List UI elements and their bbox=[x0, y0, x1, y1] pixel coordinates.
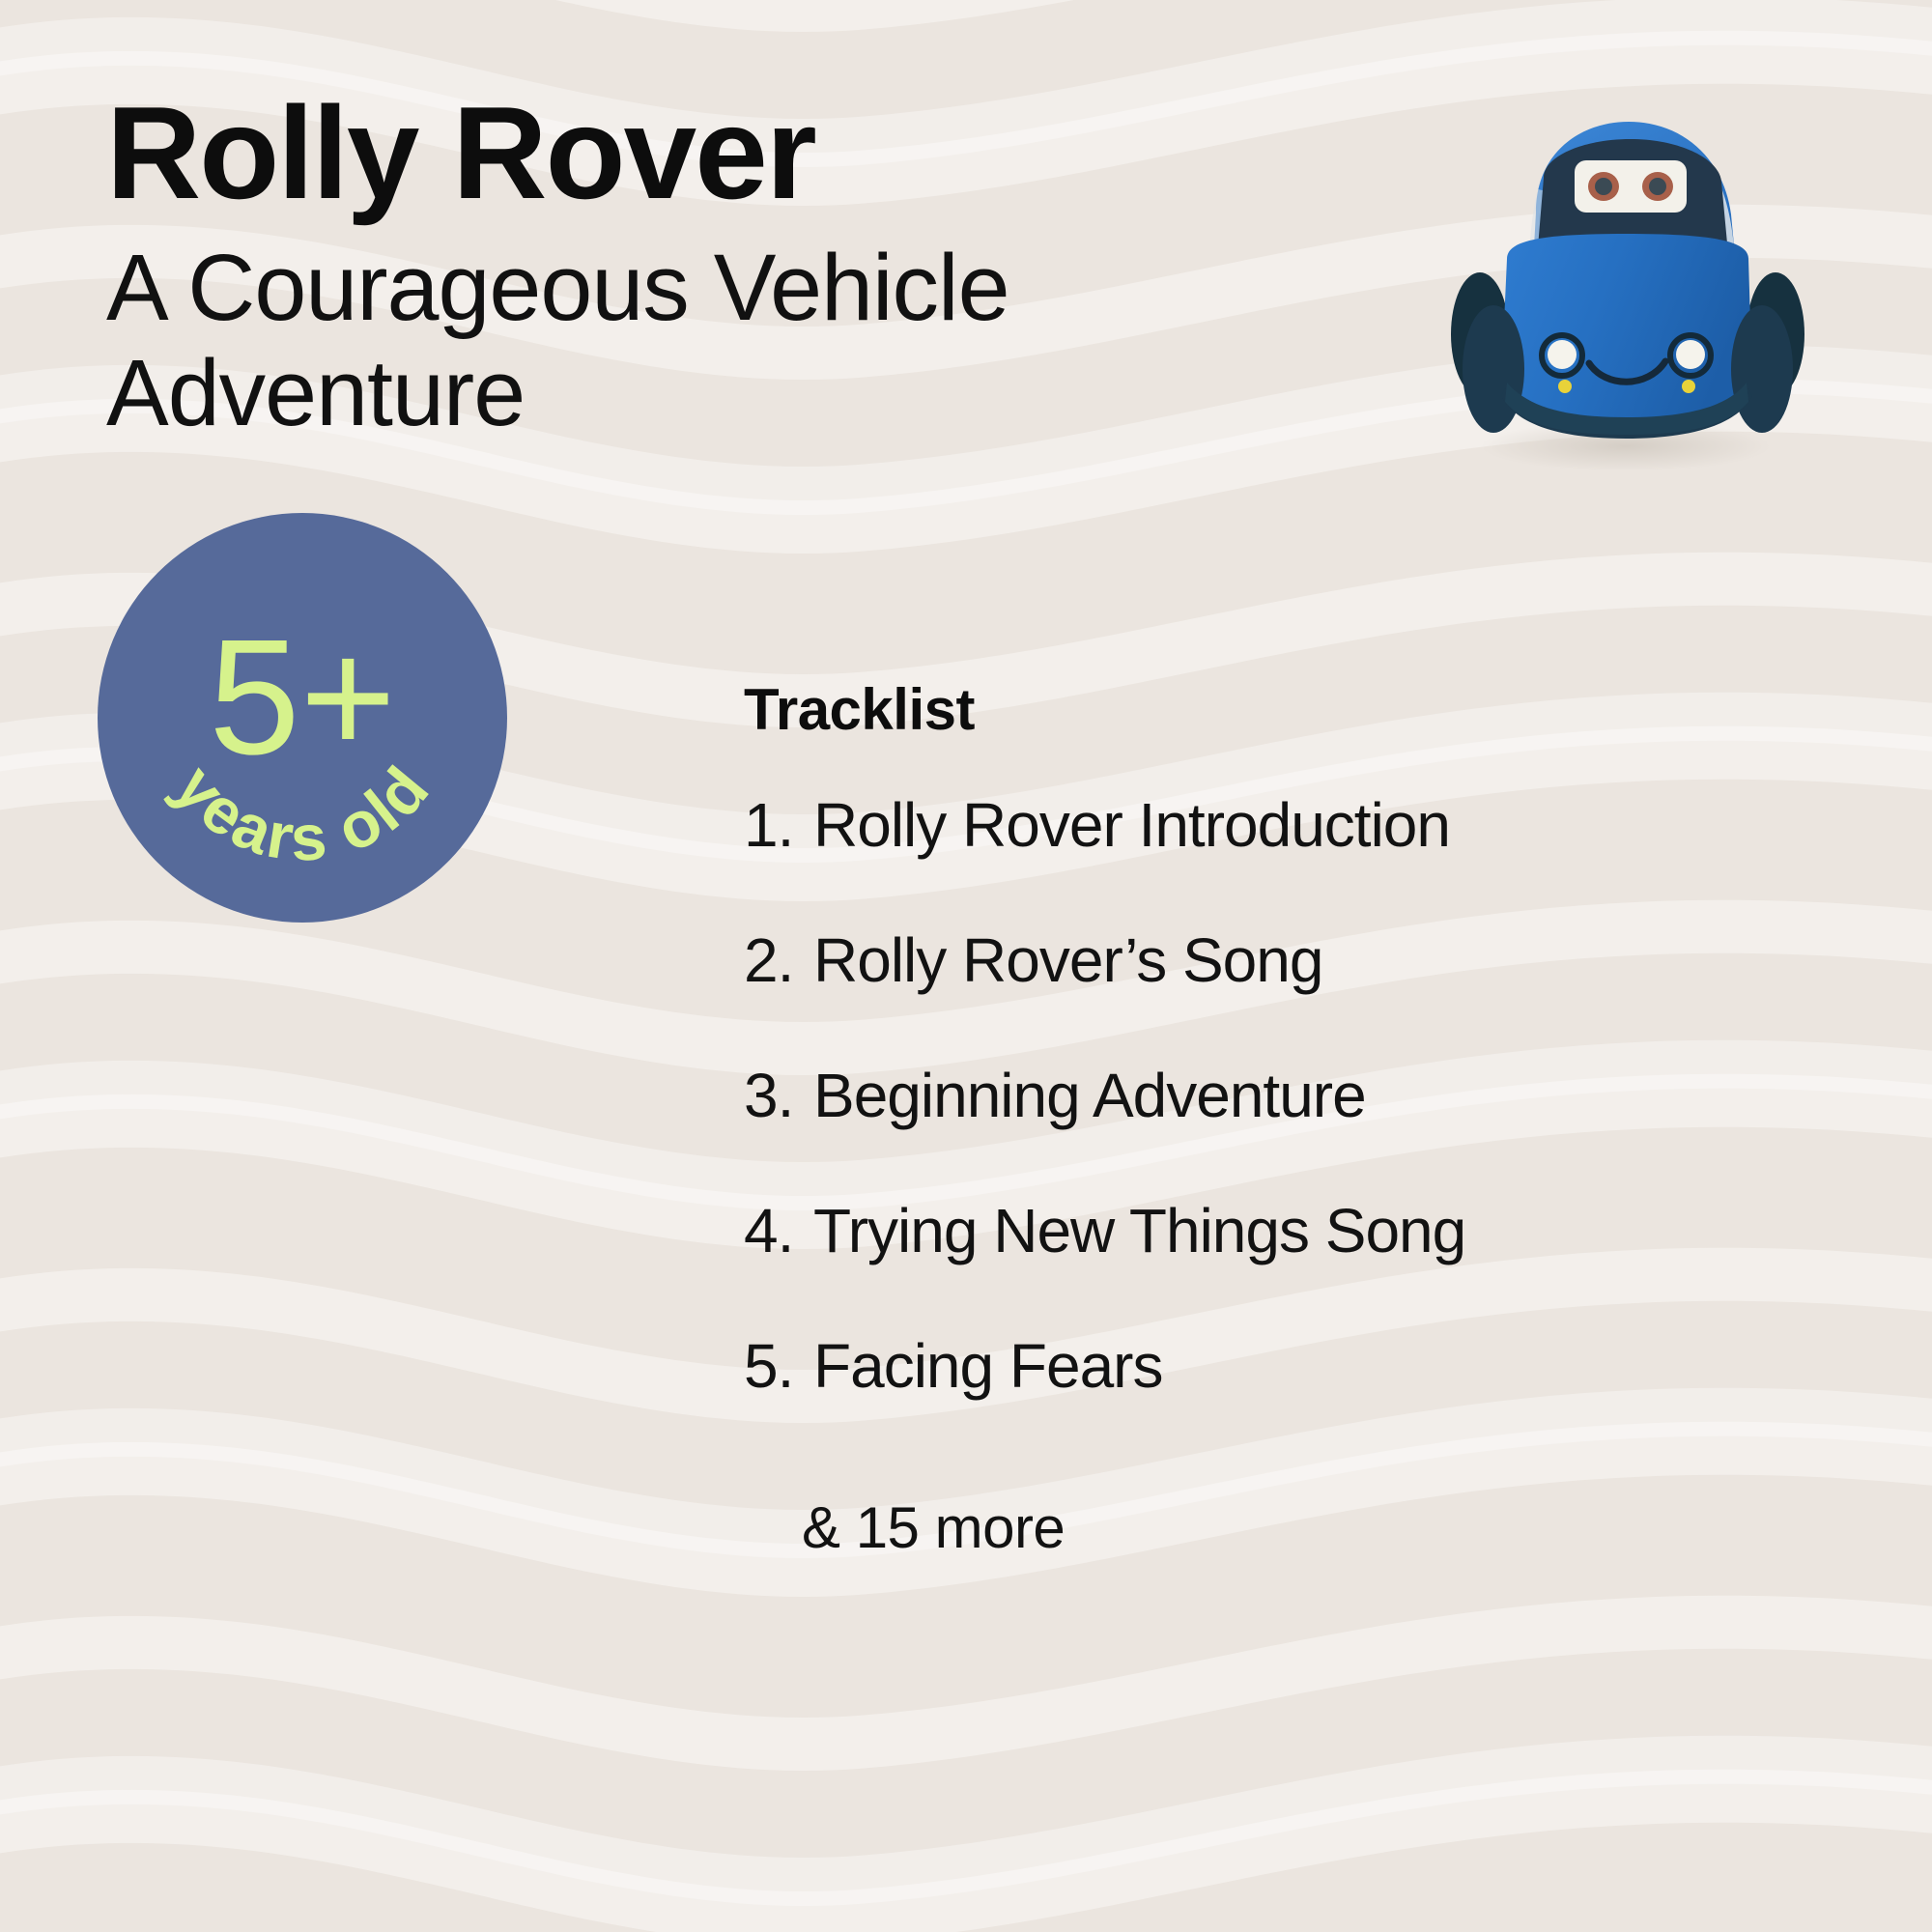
track-title: Rolly Rover’s Song bbox=[813, 924, 1322, 996]
poster-canvas: Rolly Rover A Courageous Vehicle Adventu… bbox=[0, 0, 1932, 1932]
knit-toy-car-icon bbox=[1391, 106, 1845, 473]
list-item: 2. Rolly Rover’s Song bbox=[744, 924, 1835, 996]
track-number: 2. bbox=[744, 924, 813, 996]
page-subtitle: A Courageous Vehicle Adventure bbox=[106, 236, 1072, 445]
page-title: Rolly Rover bbox=[106, 87, 1362, 218]
tracklist-more-label: & 15 more bbox=[802, 1494, 1835, 1561]
list-item: 1. Rolly Rover Introduction bbox=[744, 789, 1835, 861]
track-number: 3. bbox=[744, 1060, 813, 1131]
track-number: 5. bbox=[744, 1330, 813, 1402]
header: Rolly Rover A Courageous Vehicle Adventu… bbox=[106, 87, 1362, 445]
product-image bbox=[1391, 106, 1845, 473]
track-number: 4. bbox=[744, 1195, 813, 1266]
age-badge: 5+ years old bbox=[95, 510, 510, 925]
list-item: 4. Trying New Things Song bbox=[744, 1195, 1835, 1266]
tracklist-section: Tracklist 1. Rolly Rover Introduction 2.… bbox=[744, 676, 1835, 1561]
tracklist-items: 1. Rolly Rover Introduction 2. Rolly Rov… bbox=[744, 789, 1835, 1402]
track-title: Rolly Rover Introduction bbox=[813, 789, 1450, 861]
age-badge-value: 5+ bbox=[209, 606, 396, 789]
track-number: 1. bbox=[744, 789, 813, 861]
track-title: Facing Fears bbox=[813, 1330, 1162, 1402]
track-title: Trying New Things Song bbox=[813, 1195, 1465, 1266]
tracklist-heading: Tracklist bbox=[744, 676, 1835, 743]
track-title: Beginning Adventure bbox=[813, 1060, 1366, 1131]
list-item: 5. Facing Fears bbox=[744, 1330, 1835, 1402]
list-item: 3. Beginning Adventure bbox=[744, 1060, 1835, 1131]
